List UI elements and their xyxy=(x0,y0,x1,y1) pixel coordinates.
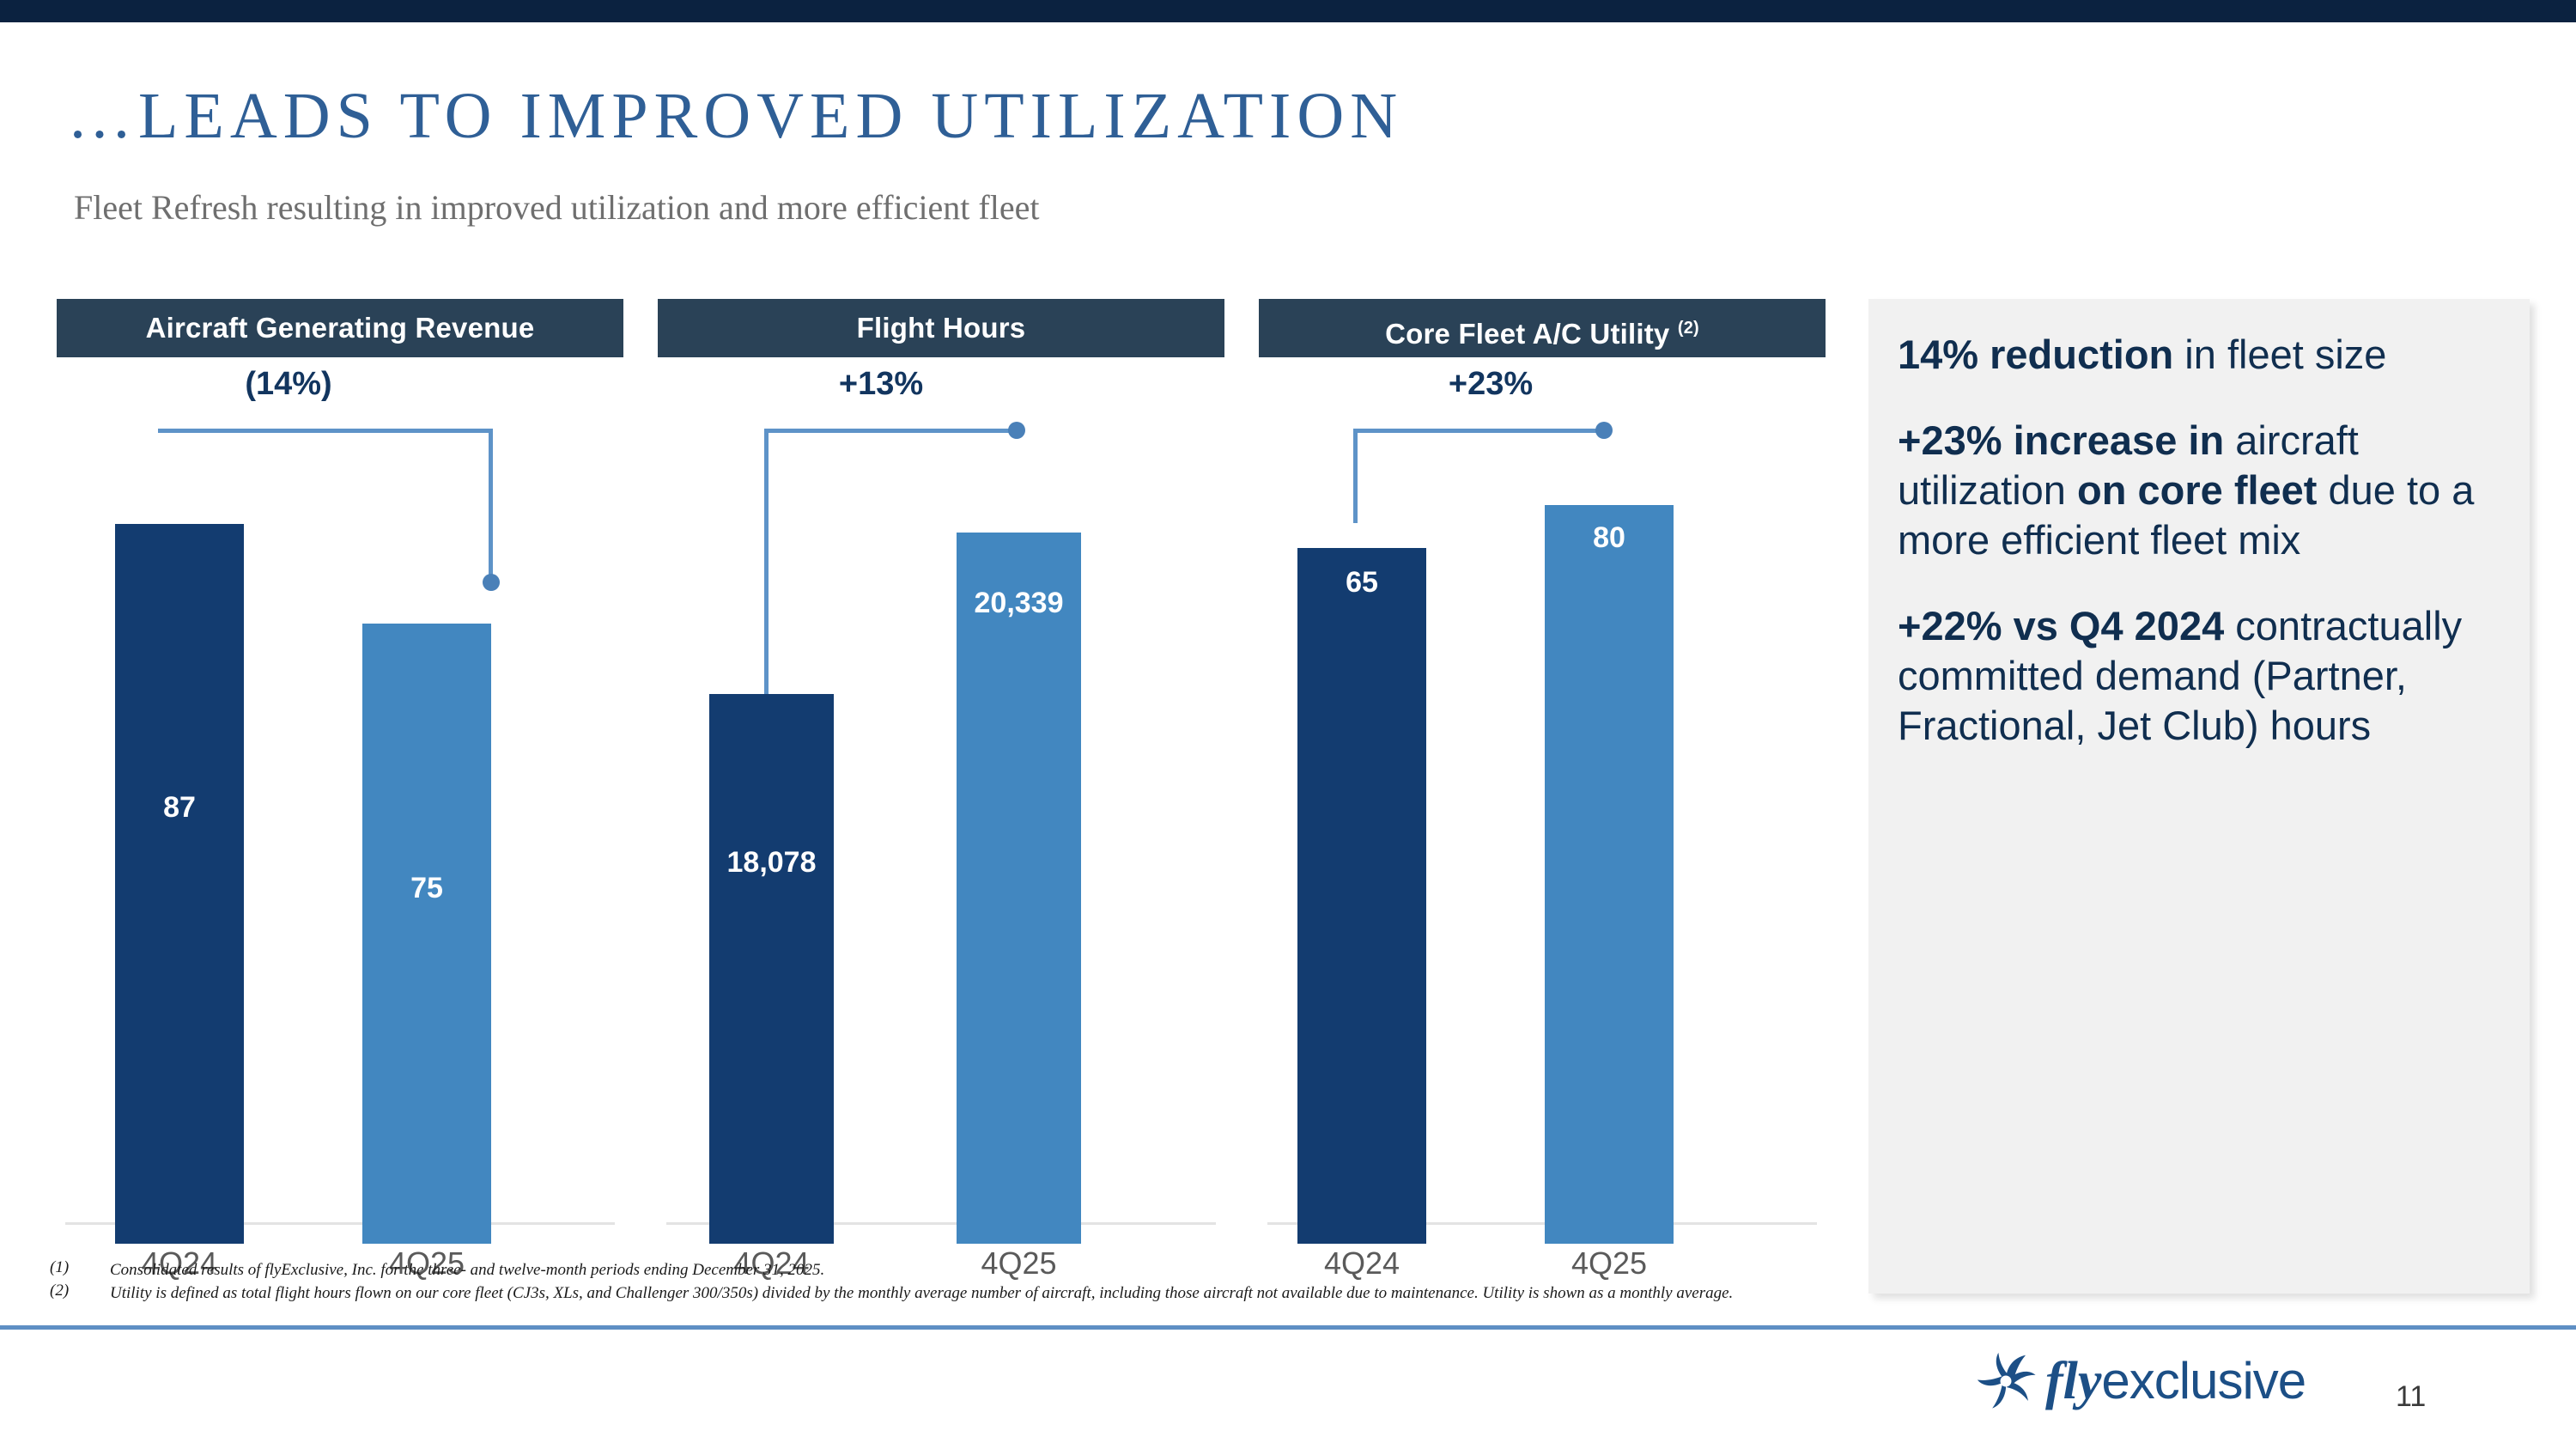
page-number: 11 xyxy=(2396,1380,2426,1414)
bar-value-label: 87 xyxy=(115,790,244,825)
chart-delta-label: +13% xyxy=(744,366,1018,403)
chart-header-label: Core Fleet A/C Utility xyxy=(1385,318,1678,350)
chart-header-label: Flight Hours xyxy=(857,312,1026,344)
plot-area-flight-hours: +13% 18,078 20,339 4Q24 4Q25 xyxy=(658,376,1224,1244)
logo-text-fly: fly xyxy=(2045,1355,2101,1408)
footnote-text-2: Utility is defined as total flight hours… xyxy=(110,1282,1844,1305)
page-subtitle: Fleet Refresh resulting in improved util… xyxy=(74,187,1039,228)
chart-header-aircraft-generating-revenue: Aircraft Generating Revenue xyxy=(57,299,623,357)
chart-panel-aircraft-generating-revenue: Aircraft Generating Revenue (14%) 87 75 … xyxy=(57,299,623,1244)
chart-panel-core-fleet-utility: Core Fleet A/C Utility (2) +23% 65 80 4Q… xyxy=(1259,299,1826,1244)
callout-item-fleet-reduction: 14% reduction in fleet size xyxy=(1898,330,2499,380)
callout-bold-lead: +22% vs Q4 2024 xyxy=(1898,603,2224,648)
chart-header-flight-hours: Flight Hours xyxy=(658,299,1224,357)
chart-header-label: Aircraft Generating Revenue xyxy=(146,312,535,344)
callout-item-committed-demand: +22% vs Q4 2024 contractually committed … xyxy=(1898,601,2499,751)
callout-bold-mid: on core fleet xyxy=(2077,467,2317,513)
chart-delta-label: +23% xyxy=(1353,366,1628,403)
bar-value-label: 65 xyxy=(1297,565,1426,600)
bar-4q24: 18,078 xyxy=(709,694,834,1244)
key-takeaways-panel: 14% reduction in fleet size +23% increas… xyxy=(1868,299,2530,1294)
callout-item-utilization-increase: +23% increase in aircraft utilization on… xyxy=(1898,416,2499,565)
bar-4q24: 87 xyxy=(115,524,244,1244)
logo-text-exclusive: exclusive xyxy=(2101,1355,2306,1408)
connector-endpoint-dot xyxy=(483,574,500,591)
chart-header-core-fleet-utility: Core Fleet A/C Utility (2) xyxy=(1259,299,1826,357)
connector-horizontal xyxy=(158,429,493,433)
turbine-swirl-icon xyxy=(1975,1350,2037,1412)
footnote-text-1: Consolidated results of flyExclusive, In… xyxy=(110,1258,1844,1282)
chart-header-footnote-ref: (2) xyxy=(1678,319,1699,338)
flyexclusive-logo: flyexclusive xyxy=(1975,1350,2306,1412)
callout-rest: in fleet size xyxy=(2173,332,2386,377)
connector-endpoint-dot xyxy=(1008,422,1025,439)
bar-4q25: 20,339 xyxy=(957,533,1081,1244)
connector-horizontal xyxy=(764,429,1015,433)
connector-vertical xyxy=(1353,429,1358,523)
chart-delta-label: (14%) xyxy=(151,366,426,403)
top-accent-bar xyxy=(0,0,2576,22)
footer-divider xyxy=(0,1325,2576,1330)
bar-4q24: 65 xyxy=(1297,548,1426,1244)
connector-horizontal xyxy=(1353,429,1602,433)
page-title: …LEADS TO IMPROVED UTILIZATION xyxy=(67,79,1403,153)
bar-value-label: 18,078 xyxy=(709,845,834,880)
connector-vertical xyxy=(489,429,493,583)
bar-4q25: 75 xyxy=(362,624,491,1244)
connector-endpoint-dot xyxy=(1595,422,1613,439)
bar-value-label: 75 xyxy=(362,871,491,905)
plot-area-core-fleet-utility: +23% 65 80 4Q24 4Q25 xyxy=(1259,376,1826,1244)
bar-4q25: 80 xyxy=(1545,505,1674,1244)
footnote-marker-2: (2) xyxy=(50,1282,69,1300)
plot-area-aircraft-generating-revenue: (14%) 87 75 4Q24 4Q25 xyxy=(57,376,623,1244)
bar-value-label: 80 xyxy=(1545,521,1674,555)
bar-value-label: 20,339 xyxy=(957,586,1081,620)
callout-bold-lead: +23% increase in xyxy=(1898,417,2224,463)
footnote-marker-1: (1) xyxy=(50,1258,69,1277)
chart-panel-flight-hours: Flight Hours +13% 18,078 20,339 4Q24 4Q2… xyxy=(658,299,1224,1244)
callout-bold-lead: 14% reduction xyxy=(1898,332,2173,377)
